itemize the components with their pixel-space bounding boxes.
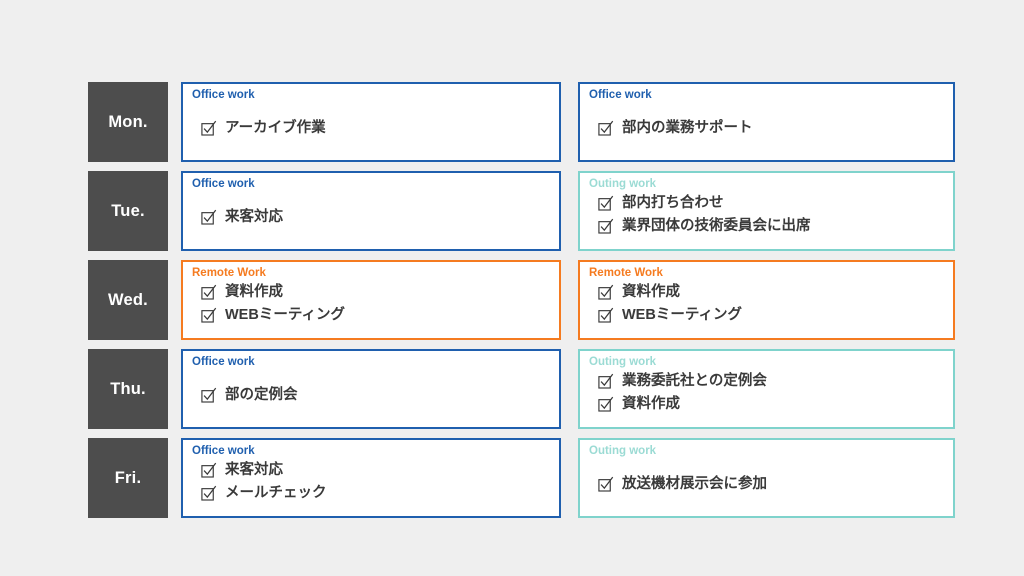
checkbox-checked-icon [598,121,613,136]
task-item[interactable]: 資料作成 [598,394,953,416]
weekly-schedule-board: Mon.Office workアーカイブ作業Office work部内の業務サポ… [0,0,1024,576]
task-card-left[interactable]: Remote Work資料作成WEBミーティング [181,260,561,340]
task-card-left[interactable]: Office work来客対応 [181,171,561,251]
task-list: 資料作成WEBミーティング [589,282,953,338]
card-category-label: Remote Work [192,267,559,281]
day-label-tile: Thu. [88,349,168,429]
task-card-left[interactable]: Office workアーカイブ作業 [181,82,561,162]
schedule-row-wed: Wed.Remote Work資料作成WEBミーティングRemote Work資… [88,260,958,340]
task-card-right[interactable]: Office work部内の業務サポート [578,82,955,162]
task-label: 業務委託社との定例会 [622,371,767,393]
card-category-label: Office work [192,178,559,192]
task-label: 来客対応 [225,207,283,229]
schedule-row-mon: Mon.Office workアーカイブ作業Office work部内の業務サポ… [88,82,958,162]
task-list: 来客対応 [192,193,559,249]
task-label: 業界団体の技術委員会に出席 [622,216,811,238]
checkbox-checked-icon [598,397,613,412]
card-category-label: Outing work [589,445,953,459]
task-card-left[interactable]: Office work来客対応メールチェック [181,438,561,518]
task-list: 業務委託社との定例会資料作成 [589,371,953,427]
checkbox-checked-icon [598,374,613,389]
task-item[interactable]: 資料作成 [201,282,559,304]
task-label: 部内打ち合わせ [622,193,724,215]
schedule-row-thu: Thu.Office work部の定例会Outing work業務委託社との定例… [88,349,958,429]
card-category-label: Office work [192,445,559,459]
task-item[interactable]: 部内打ち合わせ [598,193,953,215]
day-label-tile: Tue. [88,171,168,251]
task-label: アーカイブ作業 [225,118,326,140]
task-item[interactable]: 部の定例会 [201,385,559,407]
card-category-label: Office work [589,89,953,103]
task-item[interactable]: 部内の業務サポート [598,118,953,140]
task-label: WEBミーティング [225,305,345,327]
task-item[interactable]: 業務委託社との定例会 [598,371,953,393]
task-list: 資料作成WEBミーティング [192,282,559,338]
day-label-tile: Wed. [88,260,168,340]
card-category-label: Office work [192,356,559,370]
task-list: 部内の業務サポート [589,104,953,160]
task-card-left[interactable]: Office work部の定例会 [181,349,561,429]
task-list: 部の定例会 [192,371,559,427]
task-label: 部内の業務サポート [622,118,753,140]
task-card-right[interactable]: Outing work放送機材展示会に参加 [578,438,955,518]
checkbox-checked-icon [598,196,613,211]
task-item[interactable]: 来客対応 [201,460,559,482]
task-list: 放送機材展示会に参加 [589,460,953,516]
task-item[interactable]: メールチェック [201,483,559,505]
checkbox-checked-icon [201,388,216,403]
card-category-label: Outing work [589,178,953,192]
checkbox-checked-icon [201,121,216,136]
checkbox-checked-icon [201,463,216,478]
task-card-right[interactable]: Remote Work資料作成WEBミーティング [578,260,955,340]
checkbox-checked-icon [201,486,216,501]
day-label-tile: Fri. [88,438,168,518]
task-label: WEBミーティング [622,305,742,327]
task-item[interactable]: 来客対応 [201,207,559,229]
task-label: 資料作成 [225,282,283,304]
checkbox-checked-icon [598,308,613,323]
checkbox-checked-icon [598,285,613,300]
task-item[interactable]: WEBミーティング [598,305,953,327]
checkbox-checked-icon [598,477,613,492]
task-label: 放送機材展示会に参加 [622,474,767,496]
task-label: メールチェック [225,483,327,505]
task-label: 部の定例会 [225,385,298,407]
task-label: 資料作成 [622,394,680,416]
card-category-label: Office work [192,89,559,103]
schedule-row-tue: Tue.Office work来客対応Outing work部内打ち合わせ業界団… [88,171,958,251]
task-item[interactable]: アーカイブ作業 [201,118,559,140]
task-card-right[interactable]: Outing work業務委託社との定例会資料作成 [578,349,955,429]
day-label-tile: Mon. [88,82,168,162]
schedule-row-fri: Fri.Office work来客対応メールチェックOuting work放送機… [88,438,958,518]
checkbox-checked-icon [201,210,216,225]
task-list: 部内打ち合わせ業界団体の技術委員会に出席 [589,193,953,249]
card-category-label: Outing work [589,356,953,370]
task-list: アーカイブ作業 [192,104,559,160]
task-card-right[interactable]: Outing work部内打ち合わせ業界団体の技術委員会に出席 [578,171,955,251]
checkbox-checked-icon [201,285,216,300]
task-item[interactable]: WEBミーティング [201,305,559,327]
checkbox-checked-icon [201,308,216,323]
task-label: 資料作成 [622,282,680,304]
task-label: 来客対応 [225,460,283,482]
task-item[interactable]: 資料作成 [598,282,953,304]
task-item[interactable]: 業界団体の技術委員会に出席 [598,216,953,238]
card-category-label: Remote Work [589,267,953,281]
task-item[interactable]: 放送機材展示会に参加 [598,474,953,496]
checkbox-checked-icon [598,219,613,234]
task-list: 来客対応メールチェック [192,460,559,516]
